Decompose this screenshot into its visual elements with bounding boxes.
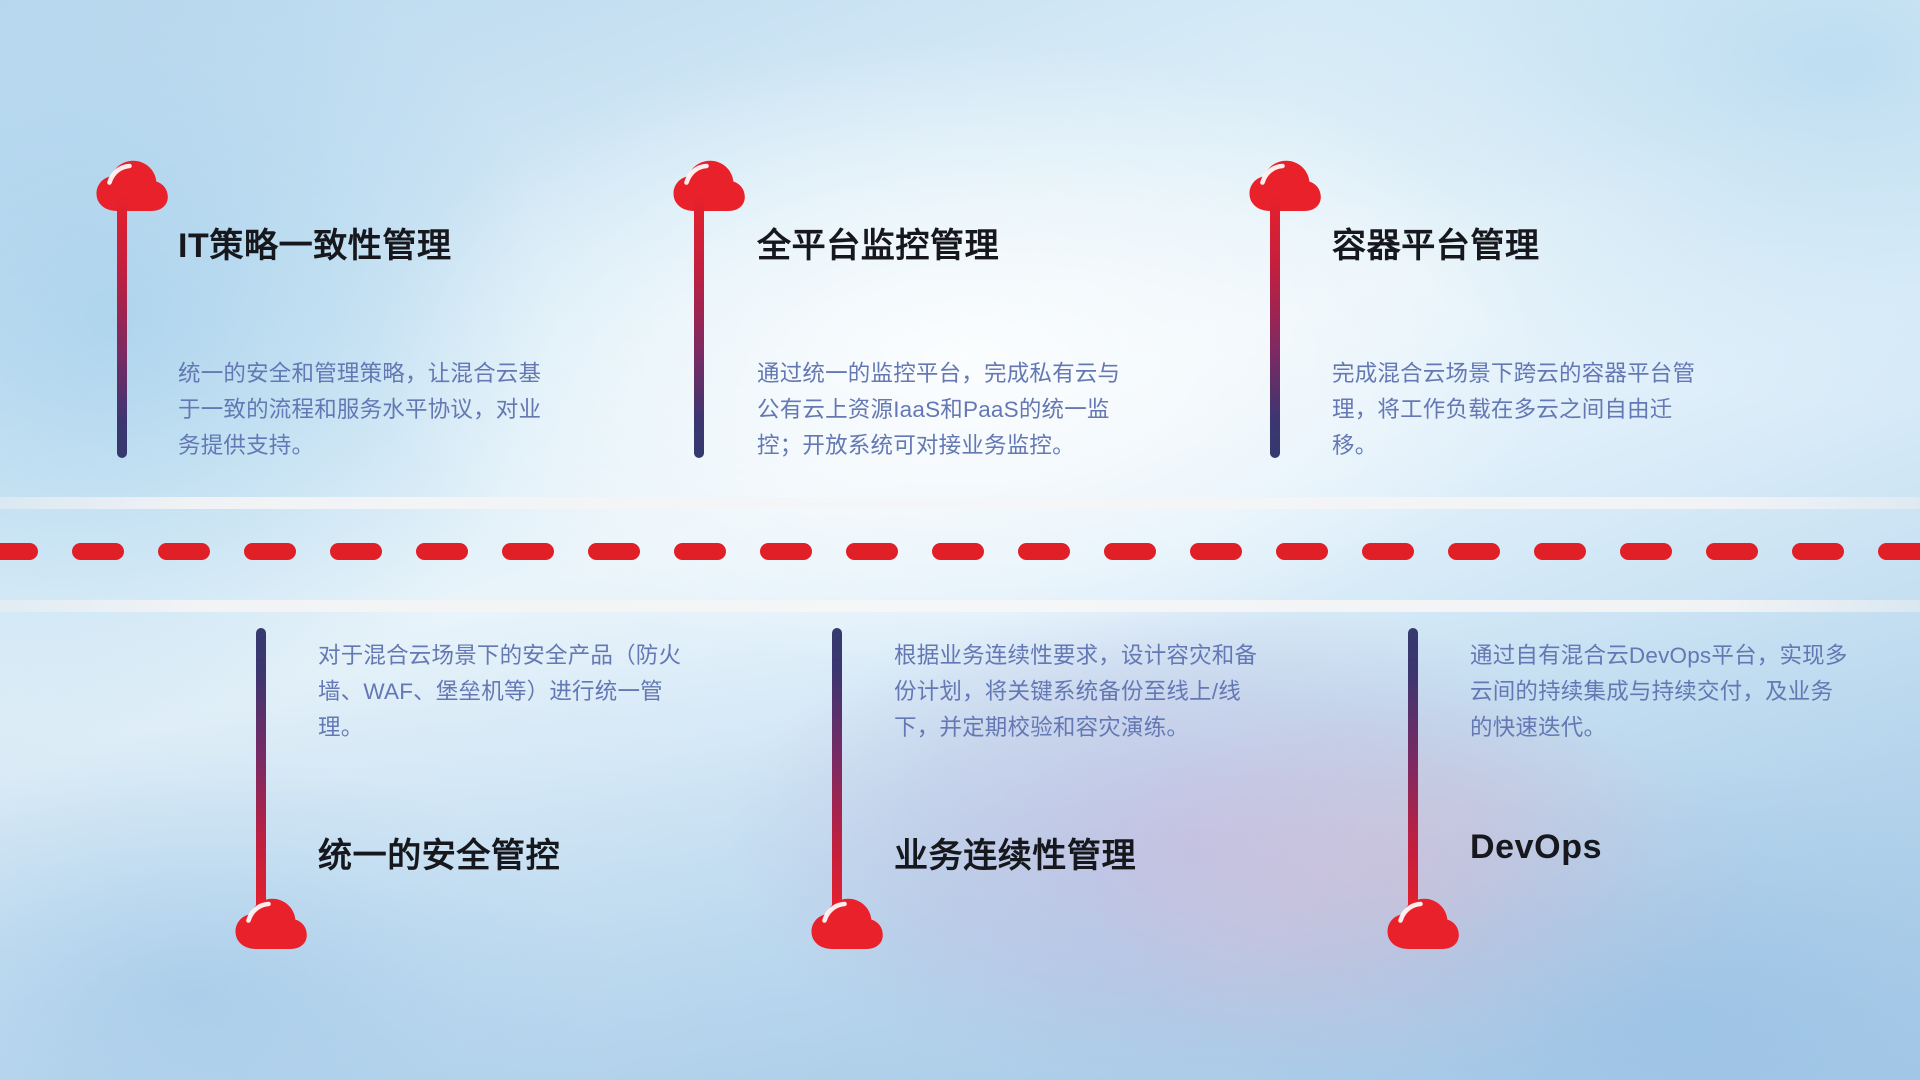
divider-bar-bottom bbox=[0, 600, 1920, 612]
divider-dash-segment bbox=[1362, 543, 1414, 560]
connector-stem bbox=[117, 196, 127, 458]
divider-dash-segment bbox=[502, 543, 554, 560]
divider-bar-top bbox=[0, 497, 1920, 509]
divider-dash-segment bbox=[1190, 543, 1242, 560]
divider-dash-segment bbox=[674, 543, 726, 560]
connector-stem bbox=[256, 628, 266, 916]
item-title: 容器平台管理 bbox=[1332, 218, 1540, 267]
divider-dash-segment bbox=[416, 543, 468, 560]
divider-dashed-line bbox=[0, 543, 1920, 560]
divider-dash-segment bbox=[1620, 543, 1672, 560]
connector-stem bbox=[832, 628, 842, 916]
divider-dash-segment bbox=[330, 543, 382, 560]
divider-dash-segment bbox=[1018, 543, 1070, 560]
item-title: 业务连续性管理 bbox=[894, 828, 1136, 877]
item-title: DevOps bbox=[1470, 828, 1602, 867]
divider-dash-segment bbox=[158, 543, 210, 560]
infographic-canvas: IT策略一致性管理 统一的安全和管理策略，让混合云基于一致的流程和服务水平协议，… bbox=[0, 0, 1920, 1080]
cloud-icon bbox=[234, 898, 308, 950]
connector-stem bbox=[1270, 196, 1280, 458]
item-description: 通过自有混合云DevOps平台，实现多云间的持续集成与持续交付，及业务的快速迭代… bbox=[1470, 638, 1850, 746]
divider-dash-segment bbox=[1276, 543, 1328, 560]
item-title: 统一的安全管控 bbox=[318, 828, 560, 877]
item-title: IT策略一致性管理 bbox=[178, 218, 452, 267]
divider-dash-segment bbox=[1792, 543, 1844, 560]
divider-dash-segment bbox=[760, 543, 812, 560]
cloud-icon bbox=[810, 898, 884, 950]
divider-dash-segment bbox=[932, 543, 984, 560]
item-description: 根据业务连续性要求，设计容灾和备份计划，将关键系统备份至线上/线下，并定期校验和… bbox=[894, 638, 1274, 746]
divider-dash-segment bbox=[0, 543, 38, 560]
divider-dash-segment bbox=[1534, 543, 1586, 560]
divider-dash-segment bbox=[1878, 543, 1920, 560]
item-title: 全平台监控管理 bbox=[757, 218, 999, 267]
cloud-icon bbox=[1248, 160, 1322, 212]
divider-dash-segment bbox=[72, 543, 124, 560]
cloud-icon bbox=[1386, 898, 1460, 950]
divider-dash-segment bbox=[846, 543, 898, 560]
divider-dash-segment bbox=[1104, 543, 1156, 560]
divider-dash-segment bbox=[244, 543, 296, 560]
connector-stem bbox=[694, 196, 704, 458]
item-description: 对于混合云场景下的安全产品（防火墙、WAF、堡垒机等）进行统一管理。 bbox=[318, 638, 698, 746]
section-divider bbox=[0, 497, 1920, 612]
connector-stem bbox=[1408, 628, 1418, 916]
divider-dash-segment bbox=[588, 543, 640, 560]
cloud-icon bbox=[95, 160, 169, 212]
divider-dash-segment bbox=[1448, 543, 1500, 560]
item-description: 统一的安全和管理策略，让混合云基于一致的流程和服务水平协议，对业务提供支持。 bbox=[178, 356, 558, 464]
item-description: 通过统一的监控平台，完成私有云与公有云上资源IaaS和PaaS的统一监控；开放系… bbox=[757, 356, 1137, 464]
cloud-icon bbox=[672, 160, 746, 212]
divider-dash-segment bbox=[1706, 543, 1758, 560]
item-description: 完成混合云场景下跨云的容器平台管理，将工作负载在多云之间自由迁移。 bbox=[1332, 356, 1712, 464]
